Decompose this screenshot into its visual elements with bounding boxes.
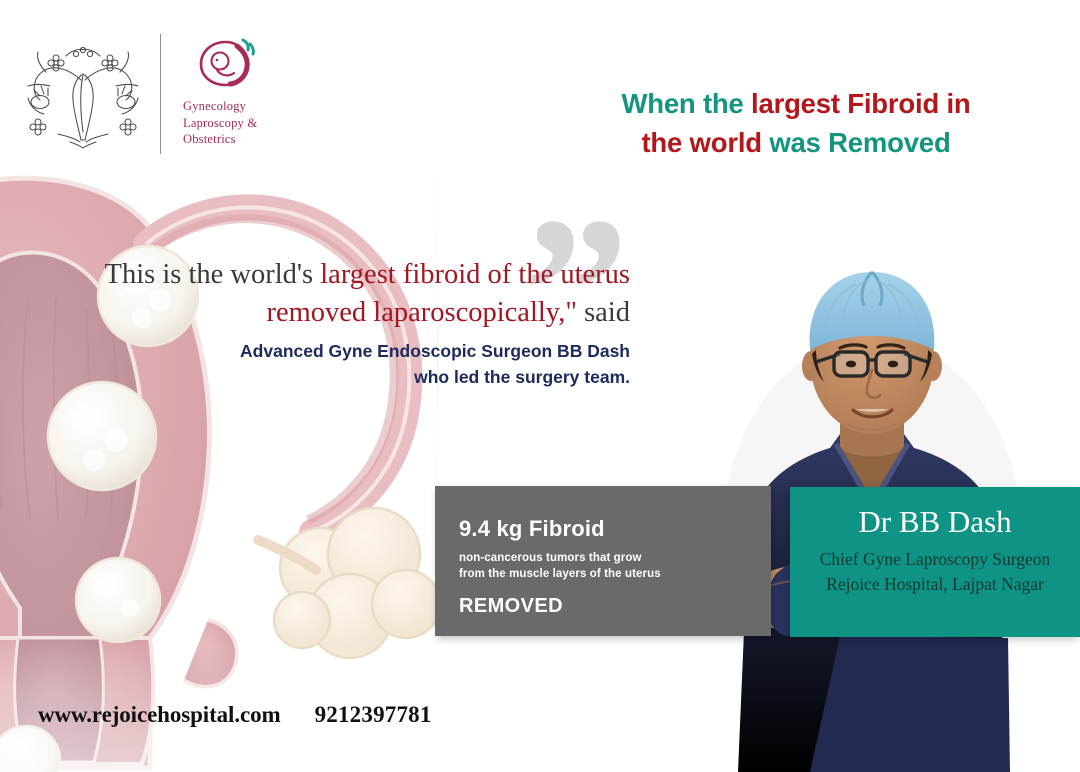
fibroid-fact-box: 9.4 kg Fibroid non-cancerous tumors that… (435, 486, 771, 636)
brand-name-line-3: Obstetrics (183, 131, 259, 148)
quote-block: This is the world's largest fibroid of t… (58, 256, 630, 390)
attribution-line-2: who led the surgery team. (58, 365, 630, 390)
quote-line-2-plain: said (577, 297, 630, 328)
mother-and-baby-icon (193, 36, 259, 90)
doctor-hospital: Rejoice Hospital, Lajpat Nagar (790, 572, 1080, 597)
headline-line-1-red: largest Fibroid in (751, 88, 970, 119)
quote-attribution: Advanced Gyne Endoscopic Surgeon BB Dash… (58, 339, 630, 390)
brand-logo-block: Gynecology Laproscopy & Obstetrics (18, 28, 318, 168)
attribution-line-1: Advanced Gyne Endoscopic Surgeon BB Dash (58, 339, 630, 364)
brand-wordmark: Gynecology Laproscopy & Obstetrics (183, 28, 259, 148)
quote-line-1: This is the world's largest fibroid of t… (58, 256, 630, 294)
doctor-name: Dr BB Dash (790, 503, 1080, 541)
page-title: When the largest Fibroid in the world wa… (546, 84, 1046, 162)
fibroid-weight: 9.4 kg Fibroid (459, 516, 771, 542)
quote-line-2-highlight: removed laparoscopically," (266, 297, 577, 328)
headline-line-1: When the largest Fibroid in (546, 84, 1046, 123)
phone-number[interactable]: 9212397781 (315, 702, 432, 728)
quote-line-2: removed laparoscopically," said (58, 294, 630, 332)
contact-footer: www.rejoicehospital.com 9212397781 (38, 702, 432, 728)
headline-line-2-red: the world (641, 127, 769, 158)
doctor-name-card: Dr BB Dash Chief Gyne Laproscopy Surgeon… (790, 487, 1080, 637)
quote-line-1-highlight: largest fibroid of the uterus (320, 259, 630, 290)
headline-line-2-teal: was Removed (769, 127, 950, 158)
brand-name-line-2: Laproscopy & (183, 115, 259, 132)
fibroid-description-line-2: from the muscle layers of the uterus (459, 567, 771, 583)
poster-canvas: Gynecology Laproscopy & Obstetrics When … (0, 0, 1080, 772)
headline-line-1-teal: When the (621, 88, 751, 119)
brand-name-line-1: Gynecology (183, 98, 259, 115)
brand-name-text: Gynecology Laproscopy & Obstetrics (183, 98, 259, 148)
logo-divider (160, 34, 161, 154)
quote-line-1-plain: This is the world's (105, 259, 321, 290)
headline-line-2: the world was Removed (546, 123, 1046, 162)
fibroid-description: non-cancerous tumors that grow from the … (459, 551, 771, 582)
doctor-role: Chief Gyne Laproscopy Surgeon (790, 547, 1080, 572)
fibroid-description-line-1: non-cancerous tumors that grow (459, 551, 771, 567)
status-badge: REMOVED (459, 595, 771, 618)
uterus-floral-crest-icon (18, 28, 148, 156)
website-link[interactable]: www.rejoicehospital.com (38, 702, 281, 728)
